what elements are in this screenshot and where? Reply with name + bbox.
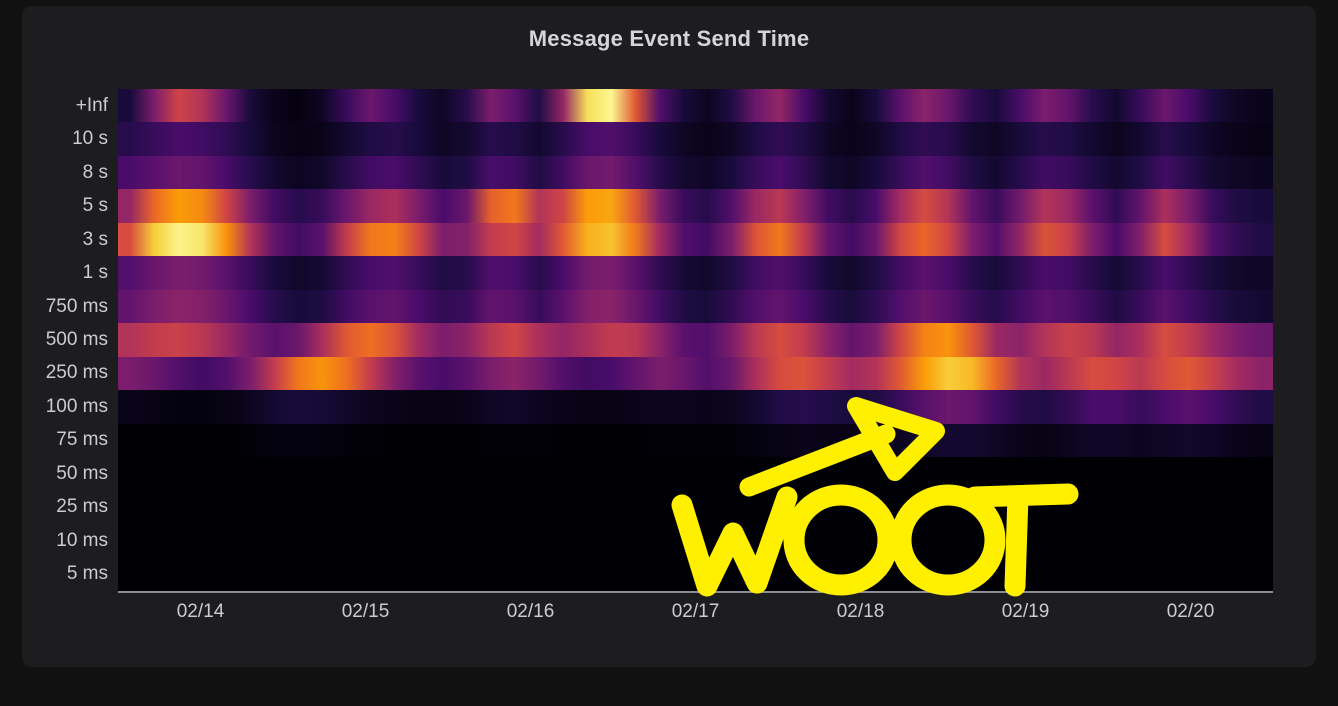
heatmap-plot-area[interactable] xyxy=(118,89,1273,591)
next-panel-partial-label xyxy=(60,697,108,706)
x-axis-tick-label: 02/17 xyxy=(672,601,720,623)
chart-panel: Message Event Send Time +Inf10 s8 s5 s3 … xyxy=(22,6,1316,667)
y-axis-tick-label: 250 ms xyxy=(46,362,108,384)
x-axis-tick-label: 02/18 xyxy=(837,601,885,623)
heatmap-row xyxy=(118,256,1273,290)
x-axis: 02/1402/1502/1602/1702/1802/1902/20 xyxy=(118,601,1273,635)
heatmap-row xyxy=(118,390,1273,424)
x-axis-line xyxy=(118,591,1273,593)
page-title: Message Event Send Time xyxy=(22,26,1316,52)
heatmap-row xyxy=(118,290,1273,324)
heatmap-row xyxy=(118,491,1273,525)
heatmap-row xyxy=(118,223,1273,257)
heatmap-row xyxy=(118,357,1273,391)
heatmap-row xyxy=(118,457,1273,491)
y-axis-tick-label: 8 s xyxy=(83,162,108,184)
x-axis-tick-label: 02/16 xyxy=(507,601,555,623)
y-axis: +Inf10 s8 s5 s3 s1 s750 ms500 ms250 ms10… xyxy=(22,89,112,591)
y-axis-tick-label: 10 ms xyxy=(56,530,108,552)
heatmap-row xyxy=(118,558,1273,591)
x-axis-tick-label: 02/14 xyxy=(177,601,225,623)
x-axis-tick-label: 02/15 xyxy=(342,601,390,623)
y-axis-tick-label: 25 ms xyxy=(56,496,108,518)
heatmap-row xyxy=(118,323,1273,357)
heatmap-row xyxy=(118,89,1273,123)
y-axis-tick-label: 3 s xyxy=(83,229,108,251)
y-axis-tick-label: 5 ms xyxy=(67,563,108,585)
y-axis-tick-label: +Inf xyxy=(76,95,108,117)
x-axis-tick-label: 02/20 xyxy=(1167,601,1215,623)
heatmap-row xyxy=(118,122,1273,156)
y-axis-tick-label: 75 ms xyxy=(56,429,108,451)
x-axis-tick-label: 02/19 xyxy=(1002,601,1050,623)
y-axis-tick-label: 500 ms xyxy=(46,329,108,351)
y-axis-tick-label: 10 s xyxy=(72,128,108,150)
y-axis-tick-label: 1 s xyxy=(83,262,108,284)
heatmap-row xyxy=(118,156,1273,190)
heatmap-row xyxy=(118,524,1273,558)
heatmap-row xyxy=(118,424,1273,458)
screenshot-root: Message Event Send Time +Inf10 s8 s5 s3 … xyxy=(0,0,1338,706)
y-axis-tick-label: 50 ms xyxy=(56,463,108,485)
y-axis-tick-label: 5 s xyxy=(83,195,108,217)
y-axis-tick-label: 100 ms xyxy=(46,396,108,418)
heatmap-row xyxy=(118,189,1273,223)
y-axis-tick-label: 750 ms xyxy=(46,296,108,318)
heatmap-canvas[interactable] xyxy=(118,89,1273,591)
